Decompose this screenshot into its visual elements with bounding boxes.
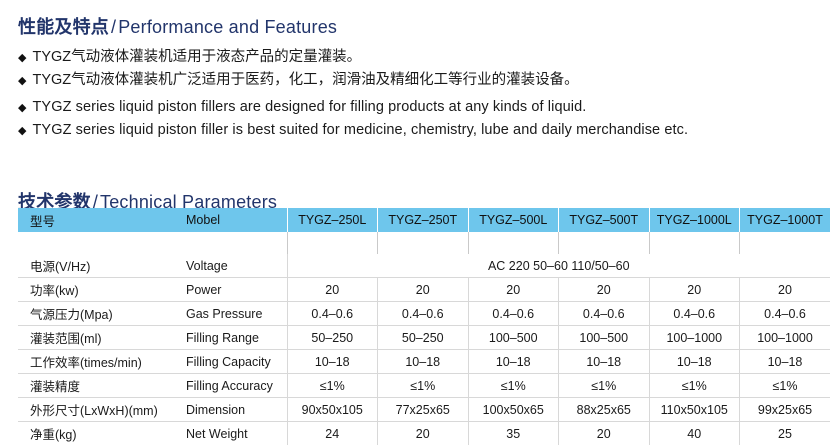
table-cell: 0.4–0.6 (287, 302, 378, 326)
diamond-bullet-icon: ◆ (18, 97, 26, 119)
column-header-model-2: TYGZ–250T (378, 208, 469, 232)
table-cell: 20 (378, 278, 469, 302)
table-cell: 100x50x65 (468, 398, 559, 422)
column-header-model-3: TYGZ–500L (468, 208, 559, 232)
table-cell: ≤1% (468, 374, 559, 398)
column-rule-stub (559, 232, 650, 254)
table-cell: 10–18 (378, 350, 469, 374)
list-item-text: TYGZ气动液体灌装机适用于液态产品的定量灌装。 (32, 46, 361, 68)
column-header-model-1: TYGZ–250L (287, 208, 378, 232)
table-cell: ≤1% (740, 374, 831, 398)
row-label-en: Filling Capacity (180, 350, 287, 374)
table-cell: ≤1% (378, 374, 469, 398)
row-label-cn: 功率(kw) (18, 278, 180, 302)
spec-table: 型号MobelTYGZ–250LTYGZ–250TTYGZ–500LTYGZ–5… (18, 208, 830, 445)
table-cell: 77x25x65 (378, 398, 469, 422)
table-row: 电源(V/Hz)VoltageAC 220 50–60 110/50–60 (18, 254, 830, 278)
row-label-en: Gas Pressure (180, 302, 287, 326)
table-cell: 0.4–0.6 (468, 302, 559, 326)
table-row: 气源压力(Mpa)Gas Pressure0.4–0.60.4–0.60.4–0… (18, 302, 830, 326)
table-row: 净重(kg)Net Weight242035204025 (18, 422, 830, 445)
list-item: ◆ TYGZ气动液体灌装机广泛适用于医药，化工，润滑油及精细化工等行业的灌装设备… (18, 69, 579, 92)
list-item: ◆ TYGZ气动液体灌装机适用于液态产品的定量灌装。 (18, 46, 579, 69)
diamond-bullet-icon: ◆ (18, 70, 26, 92)
table-cell: 50–250 (287, 326, 378, 350)
column-header-model-4: TYGZ–500T (559, 208, 650, 232)
row-label-cn: 气源压力(Mpa) (18, 302, 180, 326)
list-item-text: TYGZ series liquid piston fillers are de… (32, 96, 586, 118)
table-cell: 24 (287, 422, 378, 445)
table-cell: 100–1000 (740, 326, 831, 350)
spec-table-header: 型号MobelTYGZ–250LTYGZ–250TTYGZ–500LTYGZ–5… (18, 208, 830, 232)
table-row: 工作效率(times/min)Filling Capacity10–1810–1… (18, 350, 830, 374)
table-cell: 50–250 (378, 326, 469, 350)
features-list-english: ◆ TYGZ series liquid piston fillers are … (18, 96, 688, 142)
diamond-bullet-icon: ◆ (18, 120, 26, 142)
spec-table-body: 电源(V/Hz)VoltageAC 220 50–60 110/50–60功率(… (18, 254, 830, 445)
table-cell: ≤1% (649, 374, 740, 398)
table-cell: 20 (559, 422, 650, 445)
list-item: ◆ TYGZ series liquid piston fillers are … (18, 96, 688, 119)
table-cell: 20 (378, 422, 469, 445)
row-label-cn: 灌装范围(ml) (18, 326, 180, 350)
table-cell: 40 (649, 422, 740, 445)
row-label-en: Filling Accuracy (180, 374, 287, 398)
table-cell: 0.4–0.6 (559, 302, 650, 326)
table-cell: 0.4–0.6 (740, 302, 831, 326)
table-cell: 0.4–0.6 (649, 302, 740, 326)
table-row (18, 232, 830, 254)
row-label-en: Voltage (180, 254, 287, 278)
table-cell: 100–1000 (649, 326, 740, 350)
row-label-cn: 电源(V/Hz) (18, 254, 180, 278)
column-rule-stub (287, 232, 378, 254)
column-rule-stub (378, 232, 469, 254)
row-label-en: Net Weight (180, 422, 287, 445)
table-row: 灌装精度Filling Accuracy≤1%≤1%≤1%≤1%≤1%≤1% (18, 374, 830, 398)
features-list-chinese: ◆ TYGZ气动液体灌装机适用于液态产品的定量灌装。 ◆ TYGZ气动液体灌装机… (18, 46, 579, 92)
row-label-cn: 净重(kg) (18, 422, 180, 445)
column-rule-stub (740, 232, 831, 254)
table-cell: 0.4–0.6 (378, 302, 469, 326)
column-header-model-en: Mobel (180, 208, 287, 232)
page-title-features: 性能及特点/Performance and Features (18, 13, 337, 39)
table-cell: 35 (468, 422, 559, 445)
diamond-bullet-icon: ◆ (18, 47, 26, 69)
table-row: 灌装范围(ml)Filling Range50–25050–250100–500… (18, 326, 830, 350)
row-label-en: Dimension (180, 398, 287, 422)
column-rule-stubs (18, 232, 830, 254)
column-rule-stub (180, 232, 287, 254)
table-cell: 10–18 (287, 350, 378, 374)
table-cell: 25 (740, 422, 831, 445)
table-cell: 90x50x105 (287, 398, 378, 422)
features-heading-en: Performance and Features (118, 17, 337, 37)
list-item-text: TYGZ气动液体灌装机广泛适用于医药，化工，润滑油及精细化工等行业的灌装设备。 (32, 69, 578, 91)
table-cell: 110x50x105 (649, 398, 740, 422)
table-row: 外形尺寸(LxWxH)(mm)Dimension90x50x10577x25x6… (18, 398, 830, 422)
list-item-text: TYGZ series liquid piston filler is best… (32, 119, 688, 141)
table-cell-merged: AC 220 50–60 110/50–60 (287, 254, 830, 278)
column-header-model-5: TYGZ–1000L (649, 208, 740, 232)
row-label-en: Filling Range (180, 326, 287, 350)
column-rule-stub (18, 232, 180, 254)
row-label-cn: 外形尺寸(LxWxH)(mm) (18, 398, 180, 422)
spec-table-container: 型号MobelTYGZ–250LTYGZ–250TTYGZ–500LTYGZ–5… (18, 208, 830, 445)
features-heading-cn: 性能及特点 (18, 17, 109, 37)
column-header-model-cn: 型号 (18, 208, 180, 232)
features-heading-separator: / (109, 17, 118, 37)
table-row: 功率(kw)Power202020202020 (18, 278, 830, 302)
table-cell: 10–18 (468, 350, 559, 374)
column-rule-stub (468, 232, 559, 254)
table-cell: 10–18 (740, 350, 831, 374)
table-cell: 10–18 (559, 350, 650, 374)
table-header-row: 型号MobelTYGZ–250LTYGZ–250TTYGZ–500LTYGZ–5… (18, 208, 830, 232)
table-cell: 20 (468, 278, 559, 302)
table-cell: ≤1% (559, 374, 650, 398)
table-cell: 100–500 (559, 326, 650, 350)
table-cell: 99x25x65 (740, 398, 831, 422)
table-cell: 20 (287, 278, 378, 302)
column-rule-stub (649, 232, 740, 254)
row-label-cn: 工作效率(times/min) (18, 350, 180, 374)
column-header-model-6: TYGZ–1000T (740, 208, 831, 232)
list-item: ◆ TYGZ series liquid piston filler is be… (18, 119, 688, 142)
row-label-en: Power (180, 278, 287, 302)
table-cell: ≤1% (287, 374, 378, 398)
table-cell: 100–500 (468, 326, 559, 350)
row-label-cn: 灌装精度 (18, 374, 180, 398)
table-cell: 20 (740, 278, 831, 302)
table-cell: 10–18 (649, 350, 740, 374)
table-cell: 88x25x65 (559, 398, 650, 422)
table-cell: 20 (649, 278, 740, 302)
table-cell: 20 (559, 278, 650, 302)
